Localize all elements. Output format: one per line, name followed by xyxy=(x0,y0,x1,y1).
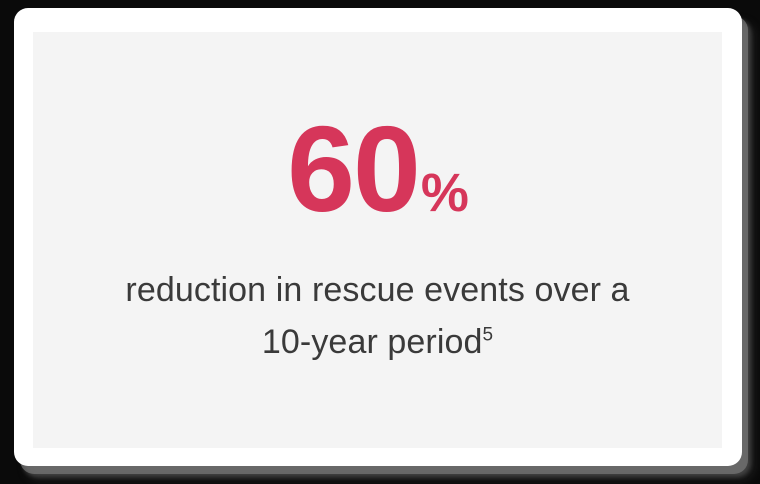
stat-unit-percent: % xyxy=(421,163,468,223)
screenshot-canvas: 60% reduction in rescue events over a 10… xyxy=(0,0,760,484)
stat-caption-line-1: reduction in rescue events over a xyxy=(33,264,722,316)
stat-card-panel: 60% reduction in rescue events over a 10… xyxy=(33,32,722,448)
stat-number: 60 xyxy=(287,101,419,237)
stat-caption-line-2-text: 10-year period xyxy=(262,323,483,361)
stat-value-group: 60% xyxy=(33,108,722,230)
footnote-reference-marker: 5 xyxy=(483,325,494,346)
stat-card-content: 60% reduction in rescue events over a 10… xyxy=(33,108,722,368)
stat-card: 60% reduction in rescue events over a 10… xyxy=(14,8,742,466)
stat-caption: reduction in rescue events over a 10-yea… xyxy=(33,264,722,368)
stat-caption-line-2: 10-year period5 xyxy=(33,316,722,368)
